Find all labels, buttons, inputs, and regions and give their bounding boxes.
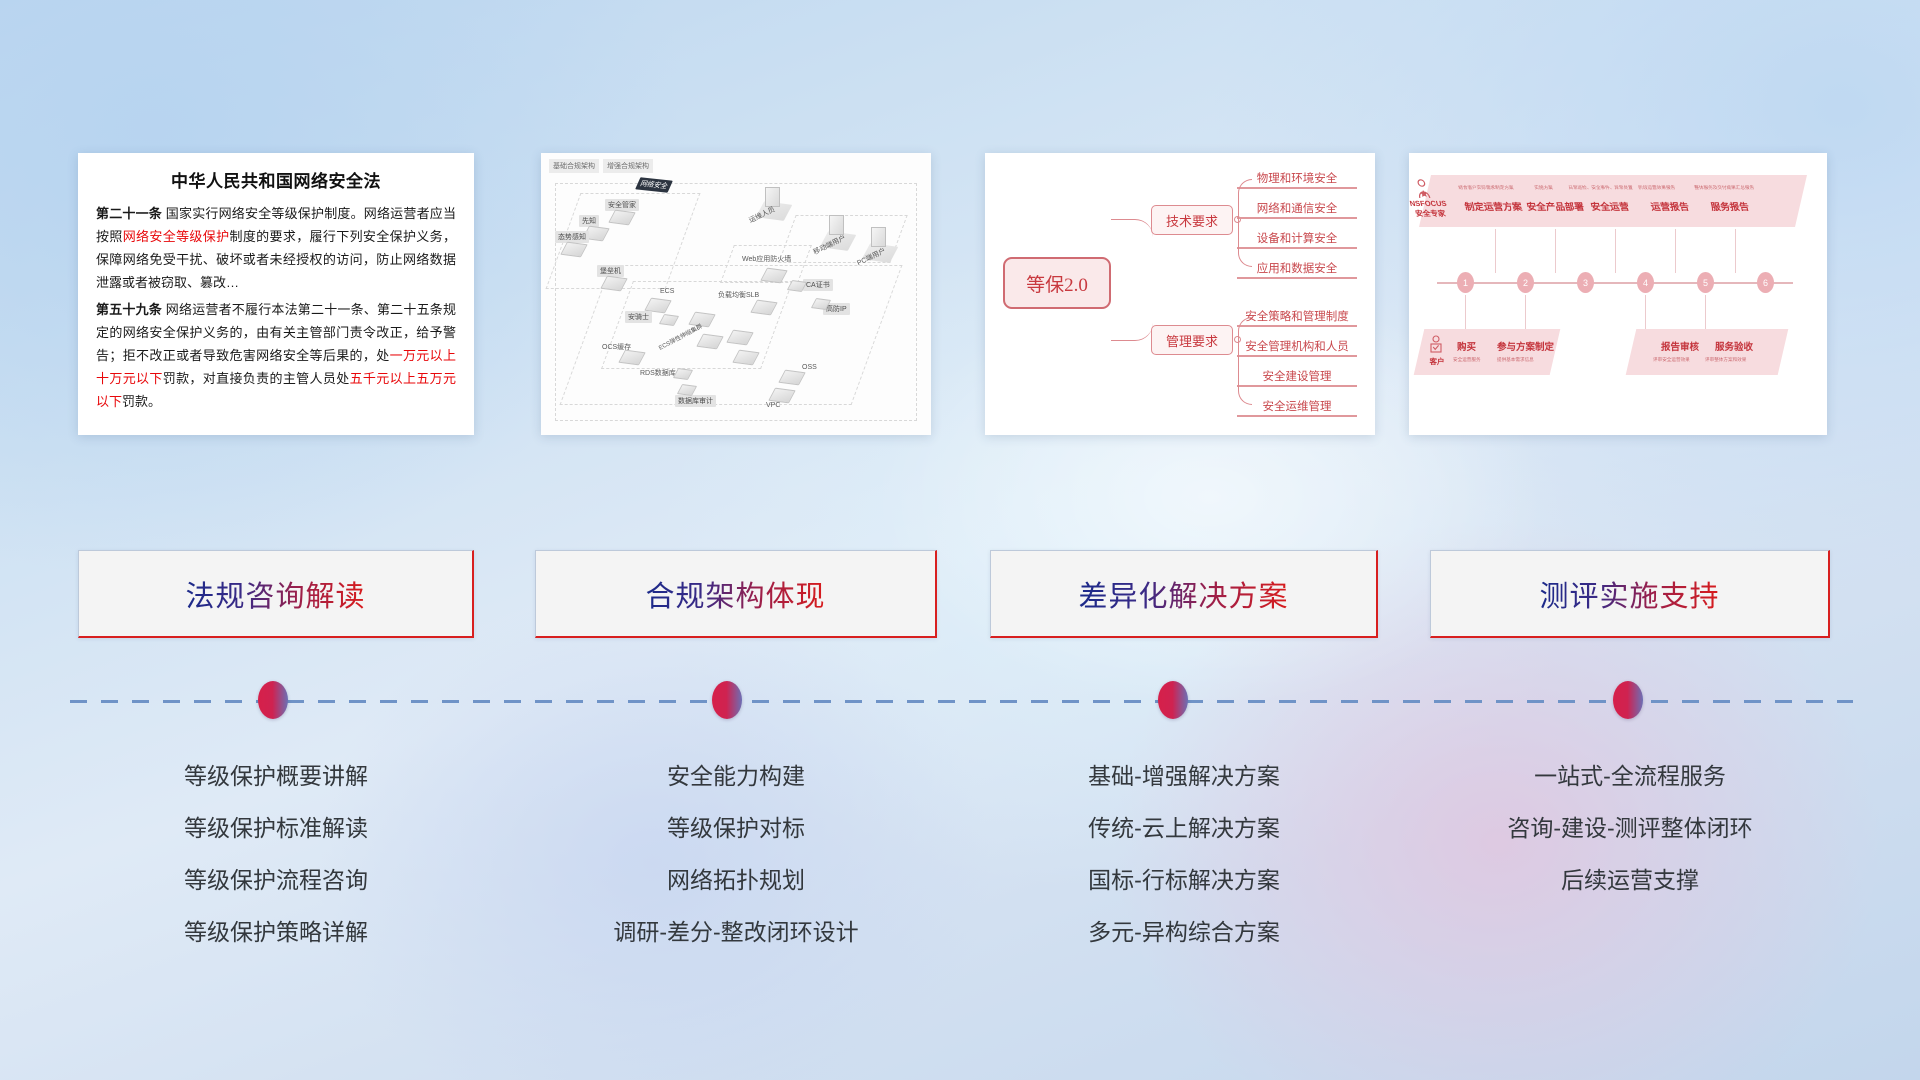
list-item: 咨询-建设-测评整体闭环 bbox=[1430, 802, 1830, 854]
label-ecs: ECS bbox=[657, 287, 677, 296]
bullet-column-2: 安全能力构建 等级保护对标 网络拓扑规划 调研-差分-整改闭环设计 bbox=[535, 750, 937, 958]
tab-basic-compliance[interactable]: 基础合规架构 bbox=[549, 159, 599, 173]
card-mindmap-dengbao: 等保2.0 技术要求 管理要求 物理和环境安全 网络和通信安全 设备和计算安全 … bbox=[985, 153, 1375, 435]
timeline-node-1: 1 bbox=[1457, 272, 1474, 293]
mindmap-branch-management: 管理要求 bbox=[1151, 325, 1233, 355]
card-nsfocus-timeline: NSFOCUS 安全专家 结合客户实际需求制定方案 制定运营方案 实施方案 安全… bbox=[1409, 153, 1827, 435]
timeline-dashed-line bbox=[70, 700, 1853, 703]
label-waf: Web应用防火墙 bbox=[739, 253, 794, 265]
timeline-marker-2[interactable] bbox=[712, 681, 742, 719]
customer-step-2-sub: 提供基本需求信息 bbox=[1497, 357, 1534, 363]
customer-step-1-sub: 安全运营服务 bbox=[1453, 357, 1481, 363]
heading-box-differentiated-solution[interactable]: 差异化解决方案 bbox=[990, 550, 1378, 638]
list-item: 一站式-全流程服务 bbox=[1430, 750, 1830, 802]
customer-step-1-main: 购买 bbox=[1457, 339, 1476, 353]
customer-step-4-sub: 评审整体方案和效果 bbox=[1705, 357, 1746, 363]
expert-step-3-main: 安全运营 bbox=[1589, 199, 1630, 213]
card-cybersecurity-law: 中华人民共和国网络安全法 第二十一条 国家实行网络安全等级保护制度。网络运营者应… bbox=[78, 153, 474, 435]
timeline-marker-4[interactable] bbox=[1613, 681, 1643, 719]
architecture-tabs: 基础合规架构 增强合规架构 bbox=[549, 159, 653, 173]
heading-label-3: 差异化解决方案 bbox=[1078, 573, 1288, 615]
law-article-21: 第二十一条 国家实行网络安全等级保护制度。网络运营者应当按照网络安全等级保护制度… bbox=[96, 202, 456, 294]
label-anqishi: 安骑士 bbox=[625, 311, 652, 323]
timeline-node-6: 6 bbox=[1757, 272, 1774, 293]
expert-step-5-main: 服务报告 bbox=[1709, 199, 1750, 213]
mindmap-leaf-construction-mgmt: 安全建设管理 bbox=[1237, 365, 1357, 387]
mindmap-edge-tech bbox=[1111, 219, 1153, 283]
bullet-column-1: 等级保护概要讲解 等级保护标准解读 等级保护流程咨询 等级保护策略详解 bbox=[78, 750, 474, 958]
list-item: 传统-云上解决方案 bbox=[990, 802, 1378, 854]
tick-3 bbox=[1615, 229, 1616, 273]
expert-step-5-sub: 整体服务及交付成果汇总报告 bbox=[1694, 185, 1755, 191]
nsfocus-axis bbox=[1437, 282, 1793, 284]
list-item: 后续运营支撑 bbox=[1430, 854, 1830, 906]
customer-step-2-main: 参与方案制定 bbox=[1497, 339, 1554, 353]
list-item: 等级保护标准解读 bbox=[78, 802, 474, 854]
timeline-node-5: 5 bbox=[1697, 272, 1714, 293]
tick-4 bbox=[1675, 229, 1676, 273]
label-db-audit: 数据库审计 bbox=[675, 395, 716, 407]
customer-label: 客户 bbox=[1425, 357, 1449, 367]
nsfocus-customer-band-right bbox=[1626, 329, 1789, 375]
list-item: 等级保护概要讲解 bbox=[78, 750, 474, 802]
nsfocus-expert-band-content: NSFOCUS 安全专家 结合客户实际需求制定方案 制定运营方案 实施方案 安全… bbox=[1409, 153, 1827, 435]
mindmap-bracket-technical bbox=[1238, 179, 1252, 267]
article-59-seg3: 罚款。 bbox=[122, 394, 161, 409]
tab-enhanced-compliance[interactable]: 增强合规架构 bbox=[603, 159, 653, 173]
list-item: 多元-异构综合方案 bbox=[990, 906, 1378, 958]
label-ca-cert: CA证书 bbox=[803, 279, 833, 291]
article-21-label: 第二十一条 bbox=[96, 206, 162, 221]
list-item: 网络拓扑规划 bbox=[535, 854, 937, 906]
label-oss: OSS bbox=[799, 363, 820, 372]
expert-step-2-main: 安全产品部署 bbox=[1525, 199, 1585, 213]
expert-person-icon bbox=[1412, 179, 1433, 199]
timeline-marker-3[interactable] bbox=[1158, 681, 1188, 719]
mindmap-leaf-org-personnel: 安全管理机构和人员 bbox=[1237, 335, 1357, 357]
list-item: 基础-增强解决方案 bbox=[990, 750, 1378, 802]
expert-step-1-main: 制定运营方案 bbox=[1463, 199, 1523, 213]
customer-step-4-main: 服务验收 bbox=[1715, 339, 1753, 353]
law-article-59: 第五十九条 网络运营者不履行本法第二十一条、第二十五条规定的网络安全保护义务的，… bbox=[96, 298, 456, 413]
nsfocus-brand: NSFOCUS bbox=[1409, 199, 1455, 209]
mindmap: 等保2.0 技术要求 管理要求 物理和环境安全 网络和通信安全 设备和计算安全 … bbox=[985, 153, 1375, 435]
mindmap-leaf-app-data: 应用和数据安全 bbox=[1237, 257, 1357, 279]
expert-step-3-sub: 日常巡检、安全事件、异常处置 bbox=[1568, 185, 1634, 191]
nsfocus-diagram: NSFOCUS 安全专家 结合客户实际需求制定方案 制定运营方案 实施方案 安全… bbox=[1409, 153, 1827, 435]
timeline-node-2: 2 bbox=[1517, 272, 1534, 293]
customer-step-3-sub: 评审安全运营效果 bbox=[1653, 357, 1690, 363]
heading-box-compliance-architecture[interactable]: 合规架构体现 bbox=[535, 550, 937, 638]
list-item: 等级保护策略详解 bbox=[78, 906, 474, 958]
customer-person-icon bbox=[1429, 335, 1443, 357]
mindmap-branch-technical: 技术要求 bbox=[1151, 205, 1233, 235]
tick-1 bbox=[1495, 229, 1496, 273]
tick-2 bbox=[1555, 229, 1556, 273]
label-security-butler: 安全管家 bbox=[605, 199, 639, 211]
card-cloud-architecture: 基础合规架构 增强合规架构 网络安全 安全管家 先知 态势感知 堡垒机 ECS bbox=[541, 153, 931, 435]
nsfocus-brand-sub: 安全专家 bbox=[1409, 209, 1458, 219]
expert-step-2-sub: 实施方案 bbox=[1534, 185, 1554, 191]
bullet-column-4: 一站式-全流程服务 咨询-建设-测评整体闭环 后续运营支撑 bbox=[1430, 750, 1830, 906]
timeline-node-4: 4 bbox=[1637, 272, 1654, 293]
mindmap-bracket-management bbox=[1238, 317, 1252, 405]
mindmap-leaf-device-compute: 设备和计算安全 bbox=[1237, 227, 1357, 249]
heading-box-regulation-consulting[interactable]: 法规咨询解读 bbox=[78, 550, 474, 638]
article-59-label: 第五十九条 bbox=[96, 302, 162, 317]
heading-label-1: 法规咨询解读 bbox=[185, 573, 365, 615]
list-item: 等级保护流程咨询 bbox=[78, 854, 474, 906]
list-item: 调研-差分-整改闭环设计 bbox=[535, 906, 937, 958]
expert-step-4-sub: 阶段运营效果报告 bbox=[1638, 185, 1676, 191]
list-item: 国标-行标解决方案 bbox=[990, 854, 1378, 906]
label-slb: 负载均衡SLB bbox=[715, 289, 762, 301]
list-item: 安全能力构建 bbox=[535, 750, 937, 802]
timeline-marker-1[interactable] bbox=[258, 681, 288, 719]
list-item: 等级保护对标 bbox=[535, 802, 937, 854]
label-situational-awareness: 态势感知 bbox=[555, 231, 589, 243]
article-21-highlight: 网络安全等级保护 bbox=[123, 229, 230, 244]
expert-step-4-main: 运营报告 bbox=[1649, 199, 1690, 213]
mindmap-leaf-ops-mgmt: 安全运维管理 bbox=[1237, 395, 1357, 417]
mindmap-edge-mgmt bbox=[1111, 283, 1153, 341]
heading-label-2: 合规架构体现 bbox=[645, 573, 825, 615]
customer-step-3-main: 报告审核 bbox=[1661, 339, 1699, 353]
expert-step-1-sub: 结合客户实际需求制定方案 bbox=[1458, 185, 1515, 191]
law-content: 中华人民共和国网络安全法 第二十一条 国家实行网络安全等级保护制度。网络运营者应… bbox=[78, 153, 474, 427]
slide-stage: 中华人民共和国网络安全法 第二十一条 国家实行网络安全等级保护制度。网络运营者应… bbox=[0, 0, 1920, 1080]
bullet-column-3: 基础-增强解决方案 传统-云上解决方案 国标-行标解决方案 多元-异构综合方案 bbox=[990, 750, 1378, 958]
heading-box-assessment-support[interactable]: 测评实施支持 bbox=[1430, 550, 1830, 638]
heading-label-4: 测评实施支持 bbox=[1539, 573, 1719, 615]
timeline-node-3: 3 bbox=[1577, 272, 1594, 293]
mindmap-leaf-physical-env: 物理和环境安全 bbox=[1237, 167, 1357, 189]
article-59-seg2: 罚款，对直接负责的主管人员处 bbox=[163, 371, 350, 386]
tick-5 bbox=[1735, 229, 1736, 273]
architecture-diagram: 基础合规架构 增强合规架构 网络安全 安全管家 先知 态势感知 堡垒机 ECS bbox=[541, 153, 931, 435]
mindmap-root: 等保2.0 bbox=[1003, 257, 1111, 309]
mindmap-leaf-policy-system: 安全策略和管理制度 bbox=[1237, 305, 1357, 327]
law-title: 中华人民共和国网络安全法 bbox=[96, 167, 456, 192]
mindmap-leaf-network-comm: 网络和通信安全 bbox=[1237, 197, 1357, 219]
